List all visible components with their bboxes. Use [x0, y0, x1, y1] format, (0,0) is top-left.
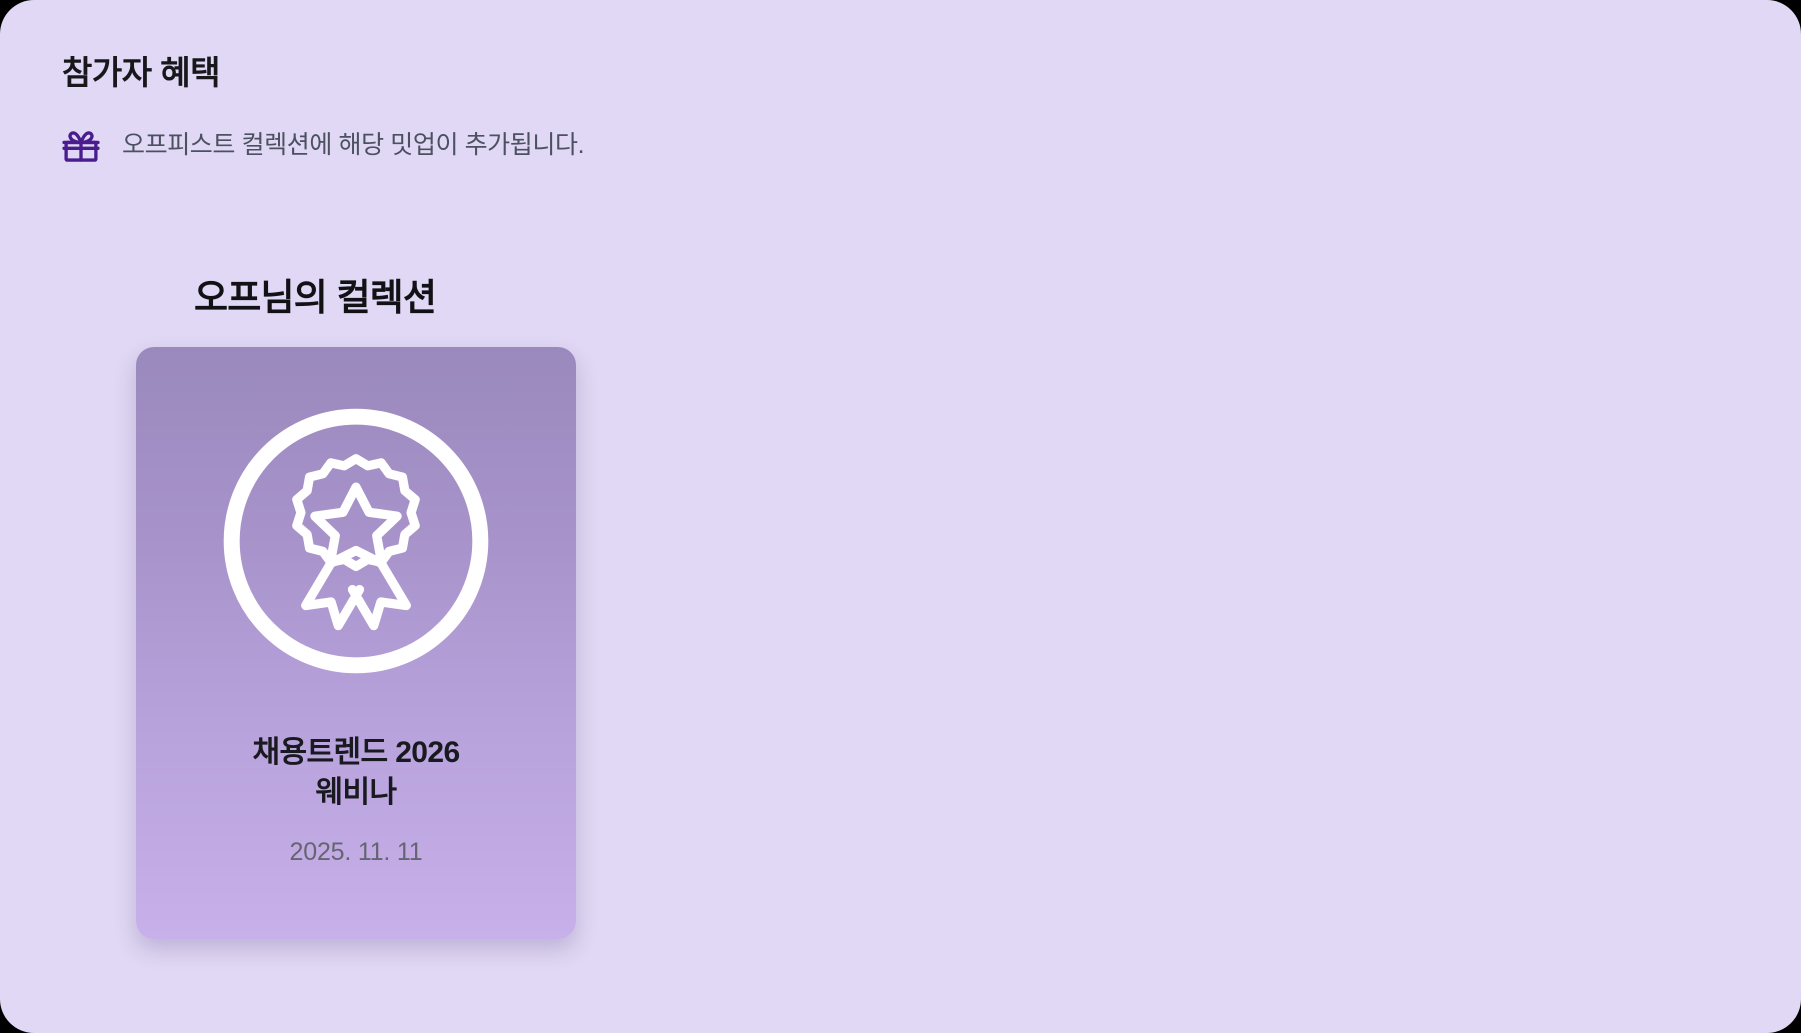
participant-benefit-section: 참가자 혜택 오프피스트 컬렉션에 해당 밋업이 추가됩니다.: [62, 52, 962, 164]
page-title: 참가자 혜택: [62, 52, 962, 93]
collection-section: 오프님의 컬렉션 채용트렌드 2026 웨비나 2025. 11. 11: [136, 276, 736, 939]
collection-card[interactable]: 채용트렌드 2026 웨비나 2025. 11. 11: [136, 347, 576, 939]
collection-title: 오프님의 컬렉션: [194, 276, 736, 320]
app-screen: 참가자 혜택 오프피스트 컬렉션에 해당 밋업이 추가됩니다. 오프님의 컬렉션: [0, 0, 1801, 1033]
award-ribbon-icon: [208, 393, 504, 689]
collection-card-grid: 채용트렌드 2026 웨비나 2025. 11. 11: [136, 347, 736, 939]
gift-icon: [62, 126, 100, 164]
benefit-item: 오프피스트 컬렉션에 해당 밋업이 추가됩니다.: [62, 126, 962, 164]
collection-card-date: 2025. 11. 11: [290, 838, 423, 867]
collection-card-title: 채용트렌드 2026 웨비나: [136, 733, 576, 812]
benefit-description: 오프피스트 컬렉션에 해당 밋업이 추가됩니다.: [122, 128, 584, 163]
